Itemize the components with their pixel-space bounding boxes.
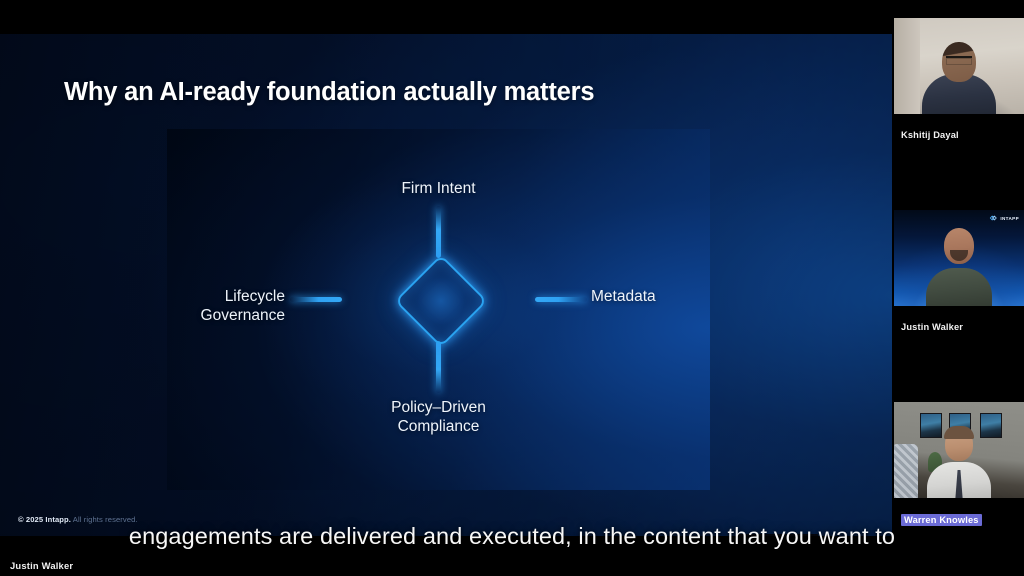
participant-name: Warren Knowles <box>901 514 982 526</box>
video-tile[interactable]: INTAPP Justin Walker <box>892 192 1024 384</box>
glasses-icon <box>946 56 972 65</box>
center-diamond-node <box>394 254 487 347</box>
active-speaker-name: Justin Walker <box>10 560 73 571</box>
video-frame: INTAPP <box>894 210 1024 306</box>
watermark-text: INTAPP <box>1000 216 1019 221</box>
background-wall <box>894 18 920 114</box>
meeting-screen: Why an AI-ready foundation actually matt… <box>0 0 1024 576</box>
connector-left <box>290 297 342 302</box>
diagram-node-left: Lifecycle Governance <box>167 287 285 325</box>
intapp-mark-icon <box>989 215 998 221</box>
video-tile[interactable]: Kshitij Dayal <box>892 0 1024 192</box>
camera-feed <box>894 18 1024 114</box>
wall-art <box>980 413 1002 438</box>
video-frame <box>894 18 1024 114</box>
slide-title: Why an AI-ready foundation actually matt… <box>64 78 594 107</box>
video-tile[interactable]: Warren Knowles <box>892 384 1024 576</box>
diagram-node-bottom: Policy–Driven Compliance <box>167 398 710 436</box>
diagram-node-right: Metadata <box>591 287 710 306</box>
participant-video-rail: Kshitij Dayal INTAPP <box>892 0 1024 576</box>
camera-feed: INTAPP <box>894 210 1024 306</box>
connector-right <box>535 297 587 302</box>
video-frame <box>894 402 1024 498</box>
shared-slide: Why an AI-ready foundation actually matt… <box>0 34 892 536</box>
participant-name: Kshitij Dayal <box>901 130 959 140</box>
participant-body <box>926 268 992 306</box>
armchair <box>894 444 918 498</box>
connector-top <box>436 206 441 258</box>
participant-name: Justin Walker <box>901 322 963 332</box>
diagram-node-top: Firm Intent <box>167 179 710 198</box>
copyright-rights: All rights reserved. <box>73 515 138 524</box>
wall-art <box>920 413 942 438</box>
connector-bottom <box>436 341 441 393</box>
background-watermark: INTAPP <box>989 215 1019 221</box>
intapp-logo: INTAPP <box>736 534 818 536</box>
camera-feed <box>894 402 1024 498</box>
diagram-panel: Firm Intent Metadata Policy–Driven Compl… <box>167 129 710 490</box>
copyright-owner: © 2025 Intapp. <box>18 515 71 524</box>
participant-hair <box>944 426 974 439</box>
slide-copyright: © 2025 Intapp. All rights reserved. <box>18 515 138 524</box>
